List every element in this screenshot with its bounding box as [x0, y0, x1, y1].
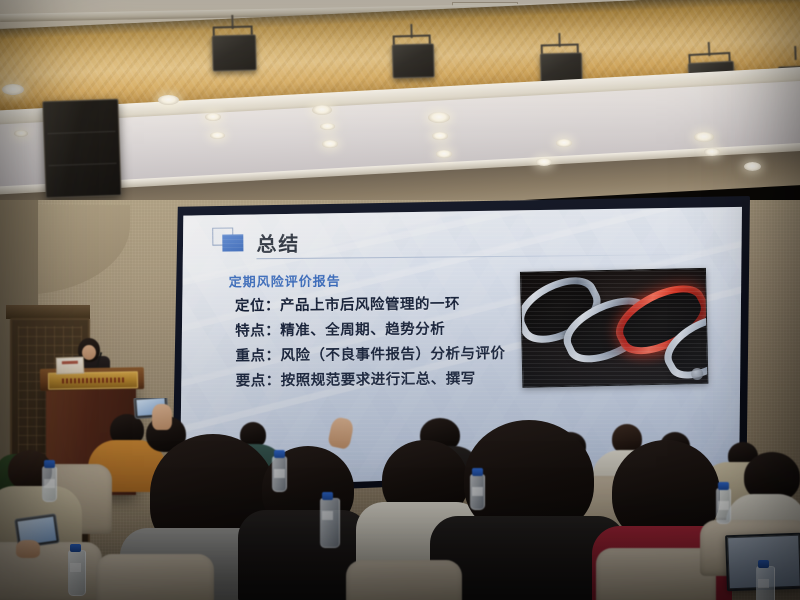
water-bottle — [42, 466, 57, 502]
downlight-10 — [436, 150, 452, 158]
title-underline — [257, 254, 707, 259]
stage-spotlight-1 — [211, 14, 254, 69]
hand-on-tablet — [16, 540, 40, 558]
downlight-7 — [322, 140, 338, 148]
downlight-4 — [210, 132, 225, 139]
spotlight-body — [392, 43, 435, 78]
slide-title-row: 总结 — [212, 223, 724, 258]
stage-spotlight-2 — [391, 23, 432, 76]
door-header-trim — [6, 305, 90, 319]
water-bottle — [272, 456, 287, 492]
water-bottle — [716, 488, 731, 524]
slide-title: 总结 — [256, 227, 300, 256]
downlight-14 — [704, 148, 720, 156]
presenter-face — [82, 345, 96, 360]
water-bottle — [756, 566, 775, 600]
downlight-13 — [694, 132, 714, 142]
raised-hand — [327, 416, 355, 450]
filled-square-icon — [222, 234, 243, 251]
spotlight-body — [212, 34, 257, 71]
nameplate-lettering — [62, 377, 124, 383]
downlight-12 — [536, 158, 552, 166]
image-watermark-icon — [691, 368, 703, 380]
podium-name-card — [56, 357, 85, 375]
downlight-9 — [432, 132, 448, 140]
spotlight-yoke — [794, 46, 796, 60]
conference-hall-photo: 总结 定期风险评价报告 定位：产品上市后风险管理的一环 特点：精准、全周期、趋势… — [0, 0, 800, 600]
water-bottle — [320, 498, 340, 548]
downlight-15 — [744, 162, 761, 171]
water-bottle — [68, 550, 86, 596]
chair-back — [596, 548, 716, 600]
hand-holding-phone — [152, 404, 172, 430]
downlight-1 — [2, 84, 24, 95]
chair-back — [96, 554, 214, 600]
downlight-16 — [14, 130, 28, 137]
downlight-2 — [158, 95, 179, 105]
downlight-6 — [320, 123, 335, 130]
downlight-8 — [428, 112, 450, 123]
chair-back — [346, 560, 462, 600]
water-bottle — [470, 474, 485, 510]
downlight-3 — [205, 113, 221, 121]
downlight-11 — [556, 139, 572, 147]
audience-area — [0, 398, 800, 600]
chain-image — [520, 268, 708, 388]
downlight-5 — [312, 105, 332, 115]
line-array-speaker-left — [42, 99, 121, 199]
